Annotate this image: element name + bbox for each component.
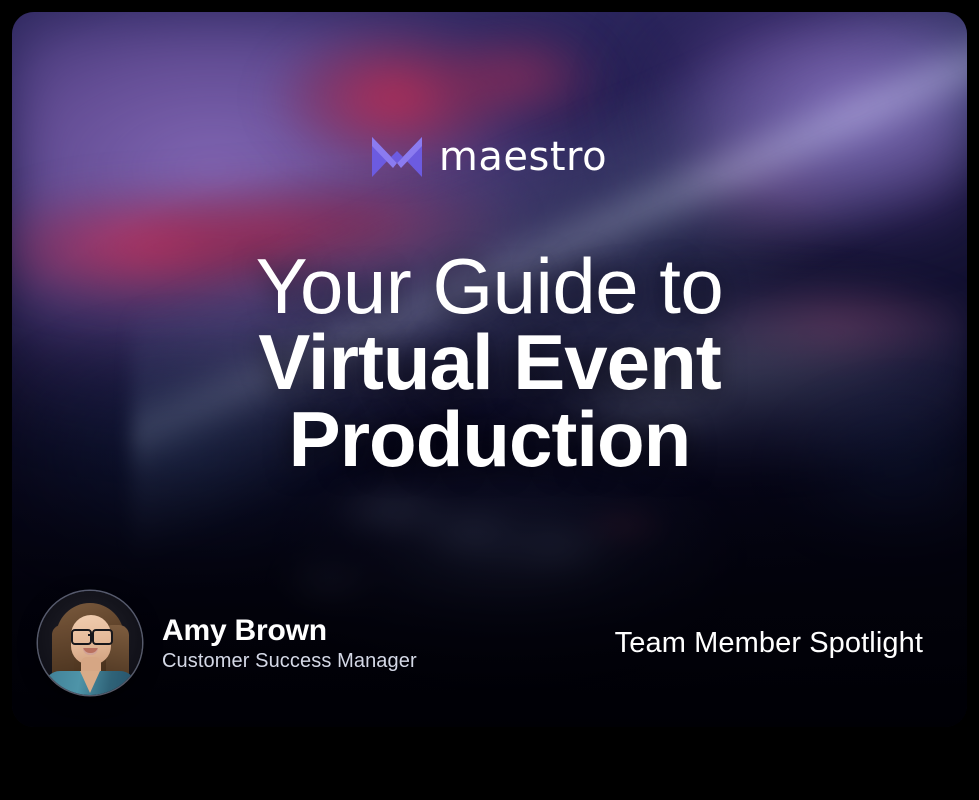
- brand-wordmark: maestro: [439, 137, 607, 177]
- avatar: [38, 591, 142, 695]
- maestro-m-logo-icon: [372, 137, 422, 177]
- slide-headline: Your Guide to Virtual Event Production: [12, 248, 967, 477]
- presenter-role: Customer Success Manager: [162, 650, 417, 672]
- presenter-text-block: Amy Brown Customer Success Manager: [162, 614, 417, 672]
- presenter-name: Amy Brown: [162, 614, 417, 647]
- headline-line-2: Virtual Event: [12, 324, 967, 400]
- headline-line-3: Production: [12, 401, 967, 477]
- brand-lockup: maestro: [12, 137, 967, 177]
- slide-footer: Amy Brown Customer Success Manager Team …: [12, 593, 967, 693]
- presentation-slide: maestro Your Guide to Virtual Event Prod…: [12, 12, 967, 727]
- avatar-eyeglass-right: [92, 629, 113, 645]
- spotlight-label: Team Member Spotlight: [615, 627, 923, 660]
- slide-content: maestro Your Guide to Virtual Event Prod…: [12, 12, 967, 727]
- avatar-eyeglass-left: [71, 629, 92, 645]
- presenter-block: Amy Brown Customer Success Manager: [38, 591, 417, 695]
- headline-line-1: Your Guide to: [12, 248, 967, 324]
- avatar-eyeglass-bridge: [88, 634, 92, 636]
- screenshot-stage: maestro Your Guide to Virtual Event Prod…: [0, 0, 979, 800]
